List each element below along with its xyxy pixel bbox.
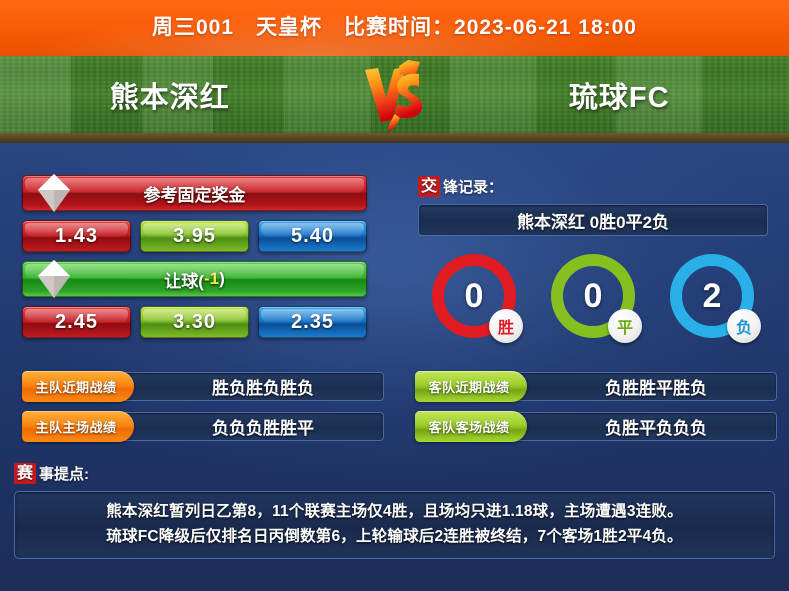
- away-form-block: 客队近期战绩 负胜胜平胜负 客队客场战绩 负胜平负负负: [415, 372, 777, 452]
- h2h-draws-count: 0: [584, 279, 603, 313]
- h2h-losses-count: 2: [703, 279, 722, 313]
- away-away-form-value: 负胜平负负负: [535, 412, 777, 441]
- dirt-strip: [0, 133, 789, 143]
- home-recent-form-value: 胜负胜负胜负: [142, 372, 384, 401]
- handicap-odd-home[interactable]: 2.45: [22, 306, 131, 338]
- diamond-icon: [37, 257, 71, 301]
- home-home-form-value: 负负负胜胜平: [142, 412, 384, 441]
- tips-body: 熊本深红暂列日乙第8，11个联赛主场仅4胜，且场均只进1.18球，主场遭遇3连败…: [14, 491, 775, 559]
- h2h-circle-loss: 2 负: [670, 254, 754, 338]
- handicap-odd-draw[interactable]: 3.30: [140, 306, 249, 338]
- tips-line-home: 熊本深红暂列日乙第8，11个联赛主场仅4胜，且场均只进1.18球，主场遭遇3连败…: [25, 499, 764, 524]
- away-recent-form-value: 负胜胜平胜负: [535, 372, 777, 401]
- away-away-form-row: 客队客场战绩 负胜平负负负: [415, 412, 777, 441]
- vs-logo: [340, 58, 450, 132]
- h2h-badge-win: 胜: [489, 309, 523, 343]
- fixed-odd-draw[interactable]: 3.95: [140, 220, 249, 252]
- odds-panel: 参考固定奖金 1.43 3.95 5.40 让球(-1 ) 2.45 3.30 …: [22, 175, 367, 347]
- handicap-odds-row: 2.45 3.30 2.35: [22, 306, 367, 338]
- diamond-icon: [37, 171, 71, 215]
- tips-line-away: 琉球FC降级后仅排名日丙倒数第6，上轮输球后2连胜被终结，7个客场1胜2平4负。: [25, 524, 764, 549]
- h2h-title: 交 锋记录：: [418, 175, 768, 197]
- team-matchup-row: 熊本深红 琉球FC: [0, 56, 789, 133]
- h2h-title-badge: 交: [418, 176, 440, 197]
- handicap-value: -1: [204, 269, 219, 289]
- home-home-form-row: 主队主场战绩 负负负胜胜平: [22, 412, 384, 441]
- away-recent-form-row: 客队近期战绩 负胜胜平胜负: [415, 372, 777, 401]
- away-team-name: 琉球FC: [450, 74, 789, 116]
- fixed-odd-home[interactable]: 1.43: [22, 220, 131, 252]
- vs-icon: [359, 58, 431, 132]
- h2h-wins-count: 0: [465, 279, 484, 313]
- match-tips-panel: 赛 事提点: 熊本深红暂列日乙第8，11个联赛主场仅4胜，且场均只进1.18球，…: [14, 462, 775, 559]
- h2h-circles: 0 胜 0 平 2 负: [418, 254, 768, 338]
- fixed-odds-title: 参考固定奖金: [144, 181, 246, 206]
- away-away-form-label: 客队客场战绩: [415, 411, 527, 442]
- home-recent-form-label: 主队近期战绩: [22, 371, 134, 402]
- tips-title: 赛 事提点:: [14, 462, 775, 484]
- home-recent-form-row: 主队近期战绩 胜负胜负胜负: [22, 372, 384, 401]
- fixed-odds-row: 1.43 3.95 5.40: [22, 220, 367, 252]
- match-header-text: 周三001 天皇杯 比赛时间：2023-06-21 18:00: [0, 0, 789, 56]
- tips-title-badge: 赛: [14, 463, 36, 484]
- handicap-title-suffix: ): [219, 269, 225, 289]
- handicap-title-prefix: 让球(: [164, 267, 204, 292]
- head-to-head-panel: 交 锋记录： 熊本深红 0胜0平2负 0 胜 0 平 2 负: [418, 175, 768, 338]
- h2h-summary: 熊本深红 0胜0平2负: [418, 204, 768, 236]
- home-form-block: 主队近期战绩 胜负胜负胜负 主队主场战绩 负负负胜胜平: [22, 372, 384, 452]
- h2h-badge-loss: 负: [727, 309, 761, 343]
- handicap-title-bar: 让球(-1 ): [22, 261, 367, 297]
- header-bar: 周三001 天皇杯 比赛时间：2023-06-21 18:00: [0, 0, 789, 56]
- h2h-title-rest: 锋记录：: [443, 176, 503, 197]
- h2h-circle-draw: 0 平: [551, 254, 635, 338]
- tips-title-rest: 事提点:: [39, 463, 89, 484]
- handicap-odd-away[interactable]: 2.35: [258, 306, 367, 338]
- h2h-badge-draw: 平: [608, 309, 642, 343]
- fixed-odds-title-bar: 参考固定奖金: [22, 175, 367, 211]
- h2h-circle-win: 0 胜: [432, 254, 516, 338]
- home-team-name: 熊本深红: [0, 74, 340, 116]
- away-recent-form-label: 客队近期战绩: [415, 371, 527, 402]
- fixed-odd-away[interactable]: 5.40: [258, 220, 367, 252]
- home-home-form-label: 主队主场战绩: [22, 411, 134, 442]
